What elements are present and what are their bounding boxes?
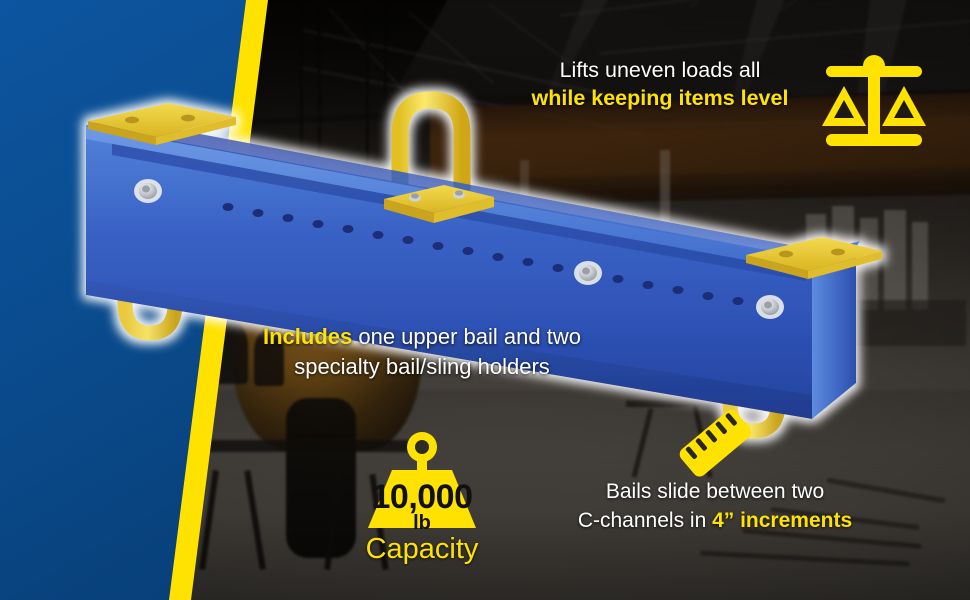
capacity-label: Capacity bbox=[340, 533, 504, 566]
balance-scale-icon bbox=[818, 52, 930, 156]
callout-includes-line2: specialty bail/sling holders bbox=[212, 352, 632, 382]
hex-bolt bbox=[756, 295, 784, 319]
banner-stage: Lifts uneven loads all while keeping ite… bbox=[0, 0, 970, 600]
callout-increments-highlight: 4” increments bbox=[712, 509, 852, 532]
callout-level-line2: while keeping items level bbox=[500, 84, 820, 112]
hex-bolt bbox=[574, 261, 602, 285]
capacity-unit: lb bbox=[352, 512, 492, 535]
spreader-beam-product-image bbox=[70, 95, 870, 435]
callout-increments-line1: Bails slide between two bbox=[545, 477, 885, 506]
callout-level: Lifts uneven loads all while keeping ite… bbox=[500, 56, 820, 112]
ruler-icon bbox=[668, 404, 764, 484]
callout-increments-prefix: C-channels in bbox=[578, 509, 712, 532]
hex-bolt bbox=[134, 179, 162, 203]
callout-includes-highlight: Includes bbox=[263, 324, 352, 349]
callout-includes-line1: Includes one upper bail and two bbox=[212, 322, 632, 352]
callout-increments: Bails slide between two C-channels in 4”… bbox=[545, 477, 885, 535]
callout-level-line1: Lifts uneven loads all bbox=[500, 56, 820, 84]
callout-includes: Includes one upper bail and two specialt… bbox=[212, 322, 632, 382]
callout-increments-line2: C-channels in 4” increments bbox=[545, 506, 885, 535]
callout-includes-rest: one upper bail and two bbox=[352, 324, 581, 349]
